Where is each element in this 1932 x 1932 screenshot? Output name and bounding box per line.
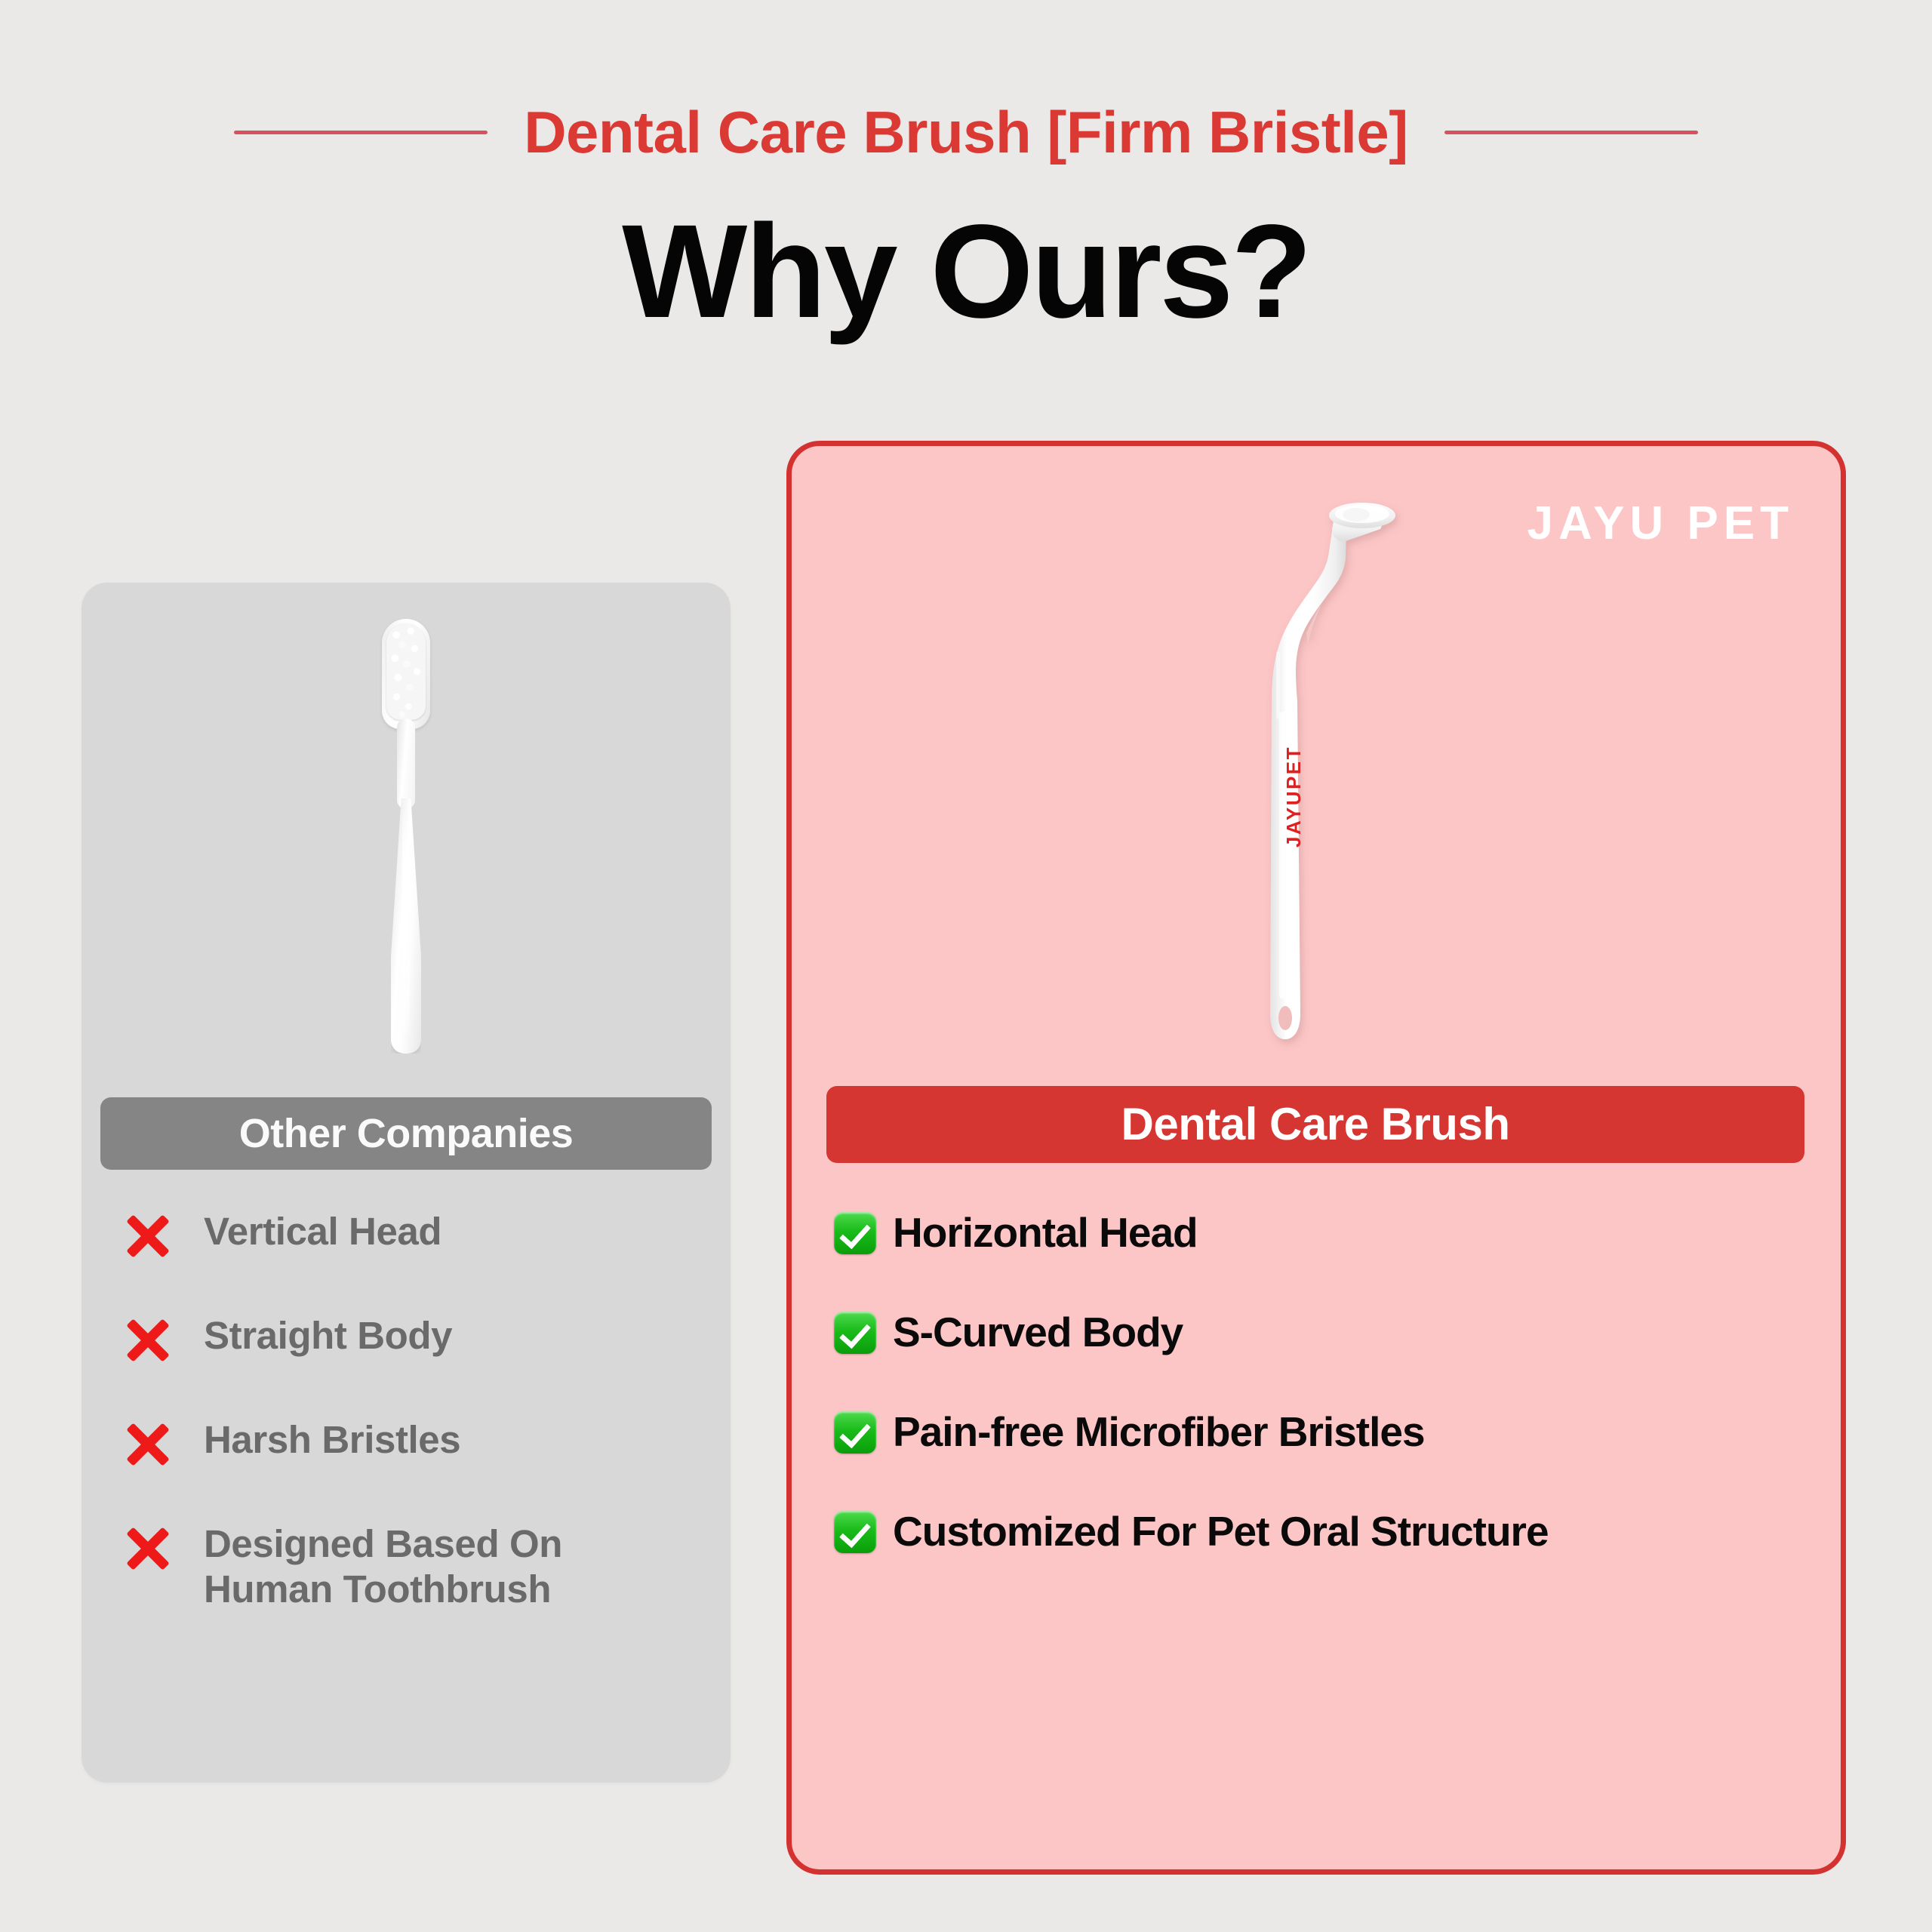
dental-care-brush-feature-list: Horizontal Head S-Curved Body Pain-free … — [792, 1207, 1841, 1558]
ours-brush-stage: JAYUPET — [792, 446, 1841, 1080]
list-item-label: Pain-free Microfiber Bristles — [893, 1408, 1425, 1456]
list-item: Designed Based On Human Toothbrush — [82, 1521, 731, 1612]
list-item-label: Customized For Pet Oral Structure — [893, 1508, 1549, 1555]
list-item-label: S-Curved Body — [893, 1309, 1183, 1356]
list-item: S-Curved Body — [792, 1306, 1841, 1359]
green-check-icon — [834, 1312, 876, 1354]
green-check-icon — [834, 1212, 876, 1254]
pet-toothbrush-image: JAYUPET — [1261, 485, 1442, 1059]
list-item-label: Vertical Head — [204, 1209, 441, 1254]
toothbrush-neck — [397, 718, 415, 809]
dental-care-brush-label: Dental Care Brush — [1121, 1102, 1510, 1147]
other-companies-label-bar: Other Companies — [100, 1097, 712, 1170]
other-companies-card: Other Companies Vertical Head Straight B… — [82, 583, 731, 1783]
x-mark-icon — [124, 1212, 172, 1260]
list-item-label: Designed Based On Human Toothbrush — [204, 1521, 562, 1612]
green-check-icon — [834, 1411, 876, 1454]
dental-care-brush-card: JAYU PET — [786, 441, 1846, 1875]
list-item-label: Horizontal Head — [893, 1209, 1198, 1257]
x-mark-icon — [124, 1316, 172, 1364]
list-item: Harsh Bristles — [82, 1417, 731, 1470]
list-item: Pain-free Microfiber Bristles — [792, 1406, 1841, 1459]
other-brush-stage — [82, 583, 731, 1096]
toothbrush-handle-highlight — [402, 808, 410, 1041]
list-item: Customized For Pet Oral Structure — [792, 1506, 1841, 1558]
dental-care-brush-label-bar: Dental Care Brush — [826, 1086, 1804, 1163]
green-check-icon — [834, 1511, 876, 1553]
other-companies-label: Other Companies — [239, 1113, 574, 1154]
other-companies-feature-list: Vertical Head Straight Body Harsh Bristl… — [82, 1209, 731, 1612]
plain-toothbrush-image — [374, 619, 438, 1054]
list-item-label: Straight Body — [204, 1313, 452, 1358]
list-item-label: Harsh Bristles — [204, 1417, 460, 1463]
toothbrush-bristles — [386, 623, 426, 720]
list-item: Horizontal Head — [792, 1207, 1841, 1260]
product-handle-logo: JAYUPET — [1284, 746, 1303, 848]
list-item: Straight Body — [82, 1313, 731, 1366]
comparison-section: Other Companies Vertical Head Straight B… — [0, 0, 1932, 1932]
list-item: Vertical Head — [82, 1209, 731, 1262]
x-mark-icon — [124, 1524, 172, 1573]
x-mark-icon — [124, 1420, 172, 1469]
